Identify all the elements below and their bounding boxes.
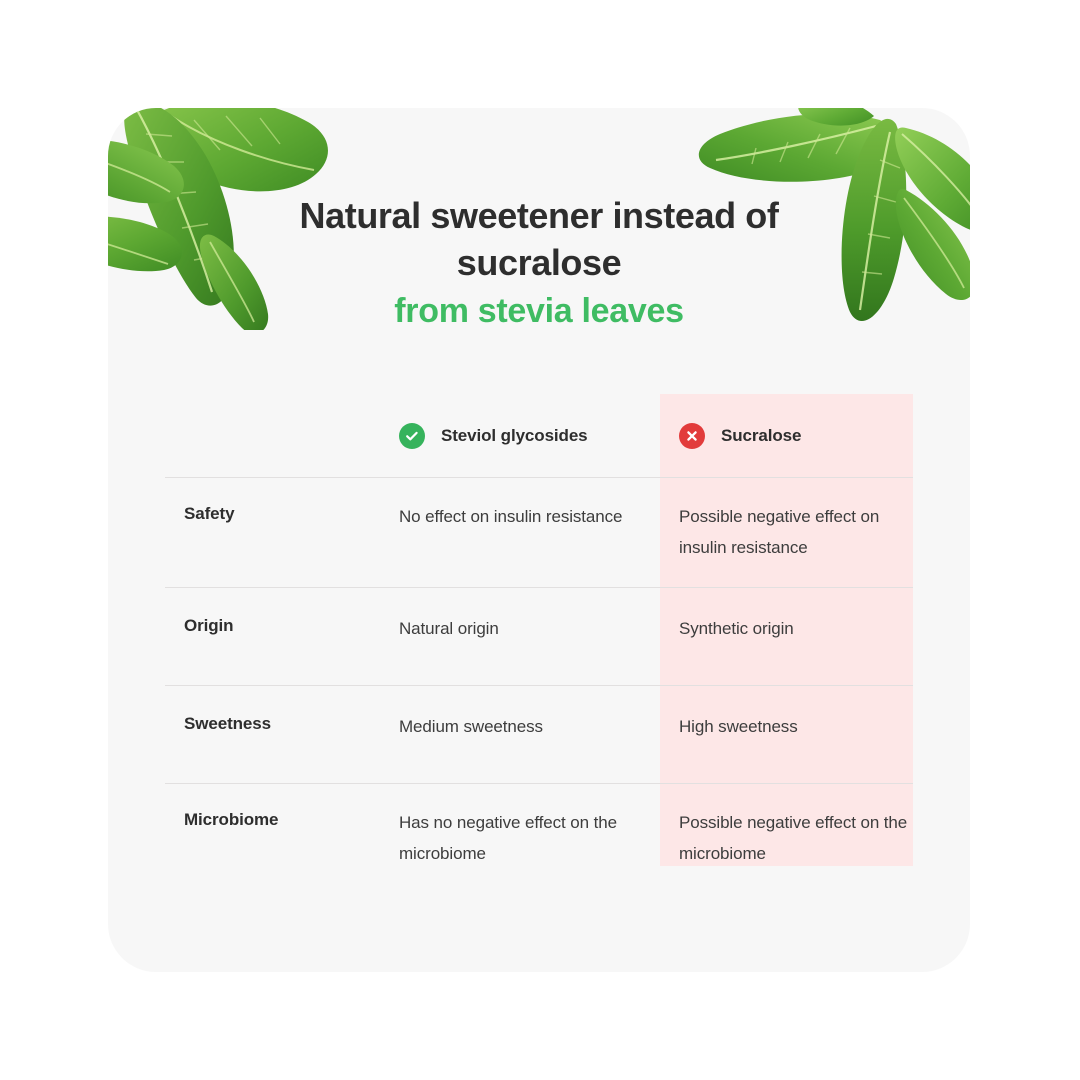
x-circle-icon xyxy=(679,423,705,449)
column-header-label-steviol: Steviol glycosides xyxy=(441,426,588,446)
row-attribute-cell: Sweetness xyxy=(165,685,399,763)
row-value-steviol: Has no negative effect on the microbiome xyxy=(399,807,660,869)
infographic-stage: Natural sweetener instead of sucralose f… xyxy=(0,0,1080,1080)
row-value-steviol: Medium sweetness xyxy=(399,711,660,742)
row-value-sucralose: Possible negative effect on insulin resi… xyxy=(679,501,913,563)
page-subtitle: from stevia leaves xyxy=(108,286,970,334)
row-sucralose-cell: Possible negative effect on insulin resi… xyxy=(660,477,913,587)
comparison-table: Steviol glycosides Sucralose S xyxy=(165,394,913,893)
row-label: Origin xyxy=(184,613,399,639)
row-attribute-cell: Origin xyxy=(165,587,399,665)
table-header-row: Steviol glycosides Sucralose xyxy=(165,394,913,477)
row-label: Safety xyxy=(184,501,399,527)
table-row: Sweetness Medium sweetness High sweetnes… xyxy=(165,685,913,783)
row-attribute-cell: Safety xyxy=(165,477,399,551)
row-steviol-cell: Medium sweetness xyxy=(399,685,660,768)
column-header-label-sucralose: Sucralose xyxy=(721,426,801,446)
row-sucralose-cell: High sweetness xyxy=(660,685,913,768)
page-title: Natural sweetener instead of sucralose xyxy=(108,192,970,286)
header-cell-steviol: Steviol glycosides xyxy=(399,423,660,449)
row-value-sucralose: High sweetness xyxy=(679,711,913,742)
title-line-2: sucralose xyxy=(457,242,622,283)
row-value-steviol: No effect on insulin resistance xyxy=(399,501,660,532)
check-circle-icon xyxy=(399,423,425,449)
table-rows: Steviol glycosides Sucralose S xyxy=(165,394,913,893)
title-line-1: Natural sweetener instead of xyxy=(300,195,779,236)
row-label: Sweetness xyxy=(184,711,399,737)
row-value-steviol: Natural origin xyxy=(399,613,660,644)
comparison-card: Natural sweetener instead of sucralose f… xyxy=(108,108,970,972)
row-value-sucralose: Synthetic origin xyxy=(679,613,913,644)
table-row: Safety No effect on insulin resistance P… xyxy=(165,477,913,587)
card-heading: Natural sweetener instead of sucralose f… xyxy=(108,192,970,334)
table-row: Origin Natural origin Synthetic origin xyxy=(165,587,913,685)
header-cell-sucralose: Sucralose xyxy=(660,423,913,449)
row-value-sucralose: Possible negative effect on the microbio… xyxy=(679,807,913,869)
row-label: Microbiome xyxy=(184,807,399,833)
table-row: Microbiome Has no negative effect on the… xyxy=(165,783,913,893)
row-sucralose-cell: Possible negative effect on the microbio… xyxy=(660,783,913,893)
row-steviol-cell: No effect on insulin resistance xyxy=(399,477,660,556)
row-steviol-cell: Has no negative effect on the microbiome xyxy=(399,783,660,893)
row-attribute-cell: Microbiome xyxy=(165,783,399,857)
row-sucralose-cell: Synthetic origin xyxy=(660,587,913,670)
row-steviol-cell: Natural origin xyxy=(399,587,660,670)
